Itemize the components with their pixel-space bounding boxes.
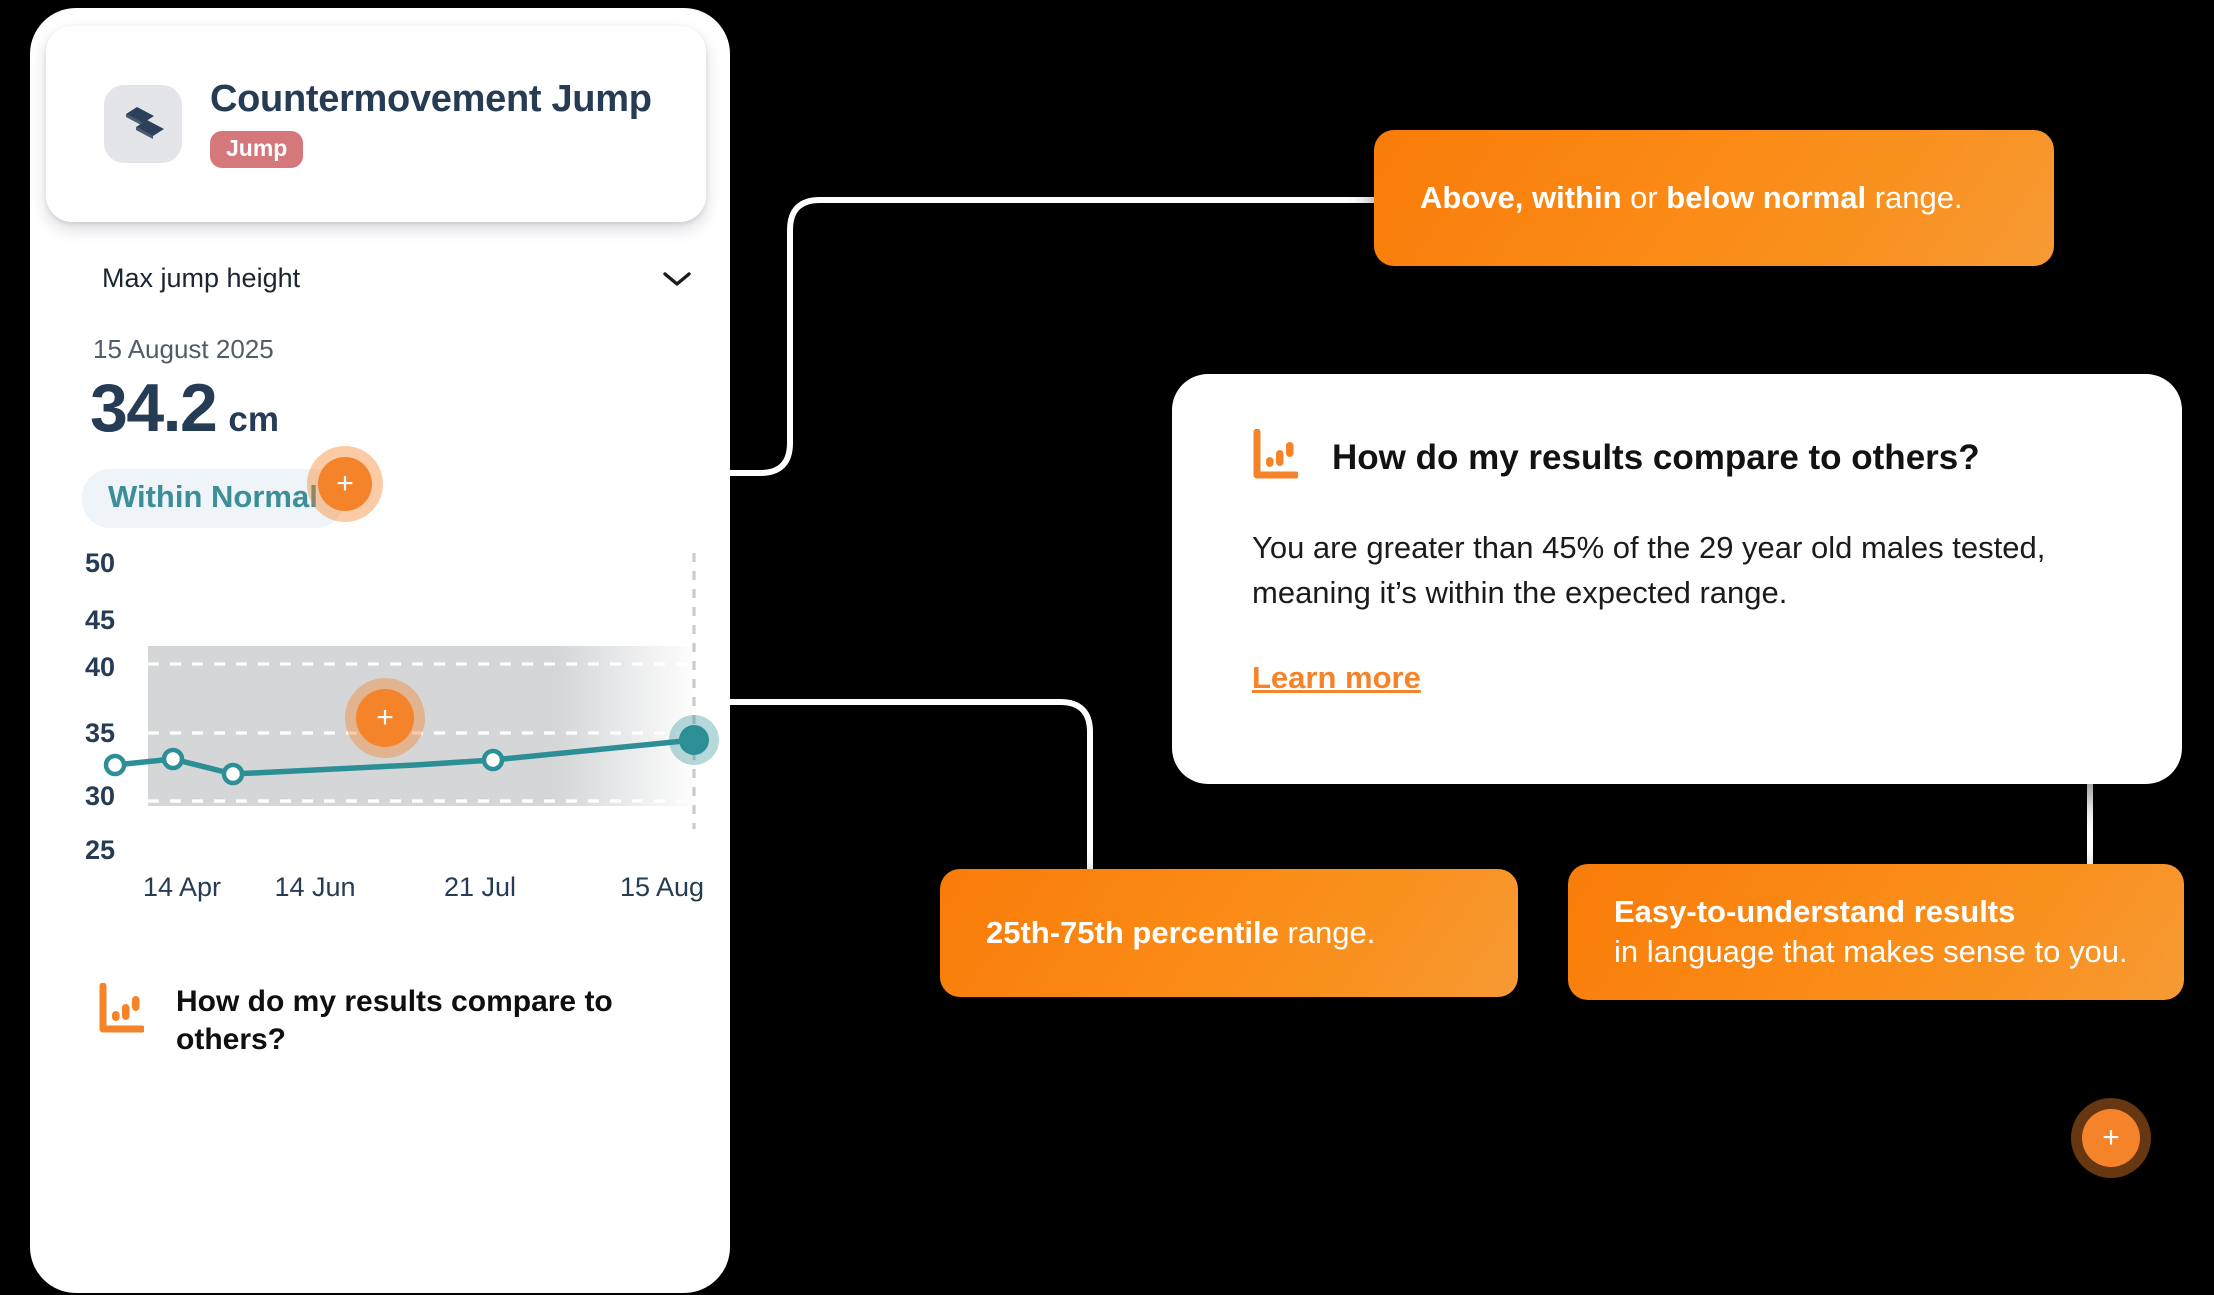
- callout-range-tail: range.: [1866, 180, 1963, 215]
- callout-normal-range: Above, within or below normal range.: [1374, 130, 2054, 266]
- info-card-compare-results: How do my results compare to others? You…: [1172, 374, 2182, 784]
- metric-selector-label: Max jump height: [102, 263, 300, 294]
- svg-text:15 Aug: 15 Aug: [620, 872, 704, 902]
- svg-text:14 Apr: 14 Apr: [143, 872, 221, 902]
- illustration-stage: Countermovement Jump Jump Max jump heigh…: [0, 0, 2214, 1295]
- plus-marker-chart[interactable]: +: [356, 689, 414, 747]
- callout-range-bold2: below normal: [1666, 180, 1866, 215]
- plus-marker-label: +: [376, 703, 394, 733]
- result-value: 34.2: [90, 369, 216, 447]
- callout-normal-range-text: Above, within or below normal range.: [1420, 178, 2008, 219]
- bar-chart-icon: [98, 983, 144, 1040]
- svg-text:40: 40: [85, 652, 115, 682]
- callout-range-bold1: Above, within: [1420, 180, 1622, 215]
- callout-percentile-tail: range.: [1279, 915, 1376, 950]
- callout-percentile-text: 25th-75th percentile range.: [986, 913, 1472, 954]
- callout-language-text: Easy-to-understand results in language t…: [1614, 892, 2138, 973]
- metric-selector[interactable]: Max jump height: [102, 263, 692, 294]
- svg-text:50: 50: [85, 548, 115, 578]
- result-unit: cm: [228, 400, 279, 440]
- info-card-body: You are greater than 45% of the 29 year …: [1252, 526, 2112, 616]
- force-plates-icon: [104, 85, 182, 163]
- svg-text:21 Jul: 21 Jul: [444, 872, 516, 902]
- compare-results-prompt[interactable]: How do my results compare to others?: [98, 983, 646, 1060]
- svg-text:14 Jun: 14 Jun: [274, 872, 355, 902]
- callout-percentile-range: 25th-75th percentile range.: [940, 869, 1518, 997]
- plus-marker-label: +: [2102, 1123, 2120, 1153]
- svg-text:35: 35: [85, 718, 115, 748]
- app-card: Countermovement Jump Jump Max jump heigh…: [30, 8, 730, 1293]
- test-header-text: Countermovement Jump Jump: [210, 80, 652, 167]
- status-badge-category: Jump: [210, 131, 303, 167]
- page-title: Countermovement Jump: [210, 80, 652, 120]
- svg-text:25: 25: [85, 835, 115, 865]
- callout-language-tail: in language that makes sense to you.: [1614, 934, 2128, 969]
- plus-marker-info-card[interactable]: +: [2082, 1109, 2140, 1167]
- callout-easy-language: Easy-to-understand results in language t…: [1568, 864, 2184, 1000]
- learn-more-link[interactable]: Learn more: [1252, 660, 1421, 696]
- info-card-title: How do my results compare to others?: [1332, 438, 1980, 478]
- chevron-down-icon[interactable]: [662, 270, 692, 288]
- bar-chart-icon: [1252, 429, 1298, 486]
- info-card-header: How do my results compare to others?: [1252, 429, 1980, 486]
- svg-text:45: 45: [85, 605, 115, 635]
- x-axis-labels: 14 Apr 14 Jun 21 Jul 15 Aug: [143, 872, 704, 902]
- latest-point: [679, 725, 709, 755]
- svg-text:30: 30: [85, 781, 115, 811]
- status-badge-normal: Within Normal: [82, 469, 344, 528]
- result-value-row: 34.2 cm: [90, 369, 279, 447]
- result-date: 15 August 2025: [93, 334, 274, 365]
- callout-language-bold: Easy-to-understand results: [1614, 894, 2015, 929]
- callout-range-mid: or: [1622, 180, 1667, 215]
- compare-results-prompt-label: How do my results compare to others?: [176, 983, 646, 1060]
- test-header-card[interactable]: Countermovement Jump Jump: [46, 26, 706, 222]
- plus-marker-status[interactable]: +: [318, 457, 372, 511]
- plus-marker-label: +: [336, 469, 354, 499]
- callout-percentile-bold: 25th-75th percentile: [986, 915, 1279, 950]
- y-axis-labels: 50 45 40 35 30 25: [85, 548, 115, 865]
